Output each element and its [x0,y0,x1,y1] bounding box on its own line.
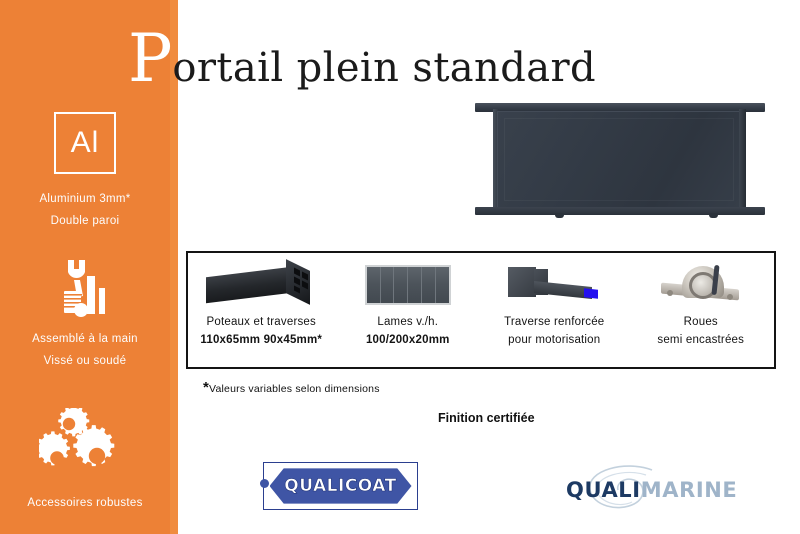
footnote-text: Valeurs variables selon dimensions [209,383,380,395]
gate-product-image [473,103,768,221]
qualicoat-diamond-shape: QUALICOAT [270,466,412,506]
sidebar-item-assembly: Assemblé à la main Vissé ou soudé [0,258,170,372]
qualimarine-logo-text: QUALIMARINE [566,478,737,502]
wrench-tools-icon [0,258,170,318]
al-symbol-label: Al [71,128,100,158]
slats-panel-icon [365,261,451,309]
sidebar-item-accessories: Accessoires robustes [0,408,170,514]
gate-infill-panel [497,111,741,208]
sidebar-item-assembly-line2: Vissé ou soudé [0,350,170,372]
feature-label-poteaux: Poteaux et traverses [207,316,316,328]
feature-spec-traverse: pour motorisation [508,334,600,346]
sidebar-item-aluminium: Al Aluminium 3mm* Double paroi [0,112,170,232]
feature-label-lames: Lames v./h. [377,316,438,328]
feature-label-roues: Roues [684,316,718,328]
feature-item-traverse: Traverse renforcée pour motorisation [481,253,628,367]
sidebar-item-aluminium-line2: Double paroi [0,210,170,232]
qualicoat-logo-text: QUALICOAT [284,476,396,496]
slide-canvas: Al Aluminium 3mm* Double paroi [0,0,800,534]
gate-bottom-rail [475,207,765,215]
feature-label-traverse: Traverse renforcée [504,316,604,328]
certification-heading: Finition certifiée [438,411,535,425]
gate-foot-right [709,213,718,218]
gate-foot-left [555,213,564,218]
qualicoat-logo: QUALICOAT [263,462,418,510]
features-box: Poteaux et traverses 110x65mm 90x45mm* L… [186,251,776,369]
feature-item-lames: Lames v./h. 100/200x20mm [335,253,482,367]
qualimarine-logo: QUALIMARINE [556,468,736,512]
footnote: *Valeurs variables selon dimensions [203,383,380,395]
qualimarine-text-part1: QUALI [566,478,641,502]
sidebar-item-aluminium-line1: Aluminium 3mm* [0,188,170,210]
gears-icon [0,408,170,480]
wheel-bearing-icon [659,261,743,309]
page-title: Portail plein standard [128,26,596,92]
aluminium-profile-icon [206,261,316,309]
gate-right-post [739,109,746,210]
qualicoat-dot-accent [260,479,269,488]
aluminium-al-square-icon: Al [54,112,116,174]
feature-item-roues: Roues semi encastrées [628,253,775,367]
sidebar-item-accessories-line1: Accessoires robustes [0,492,170,514]
qualimarine-text-part2: MARINE [641,478,738,502]
feature-item-poteaux: Poteaux et traverses 110x65mm 90x45mm* [188,253,335,367]
reinforced-beam-icon [504,261,604,309]
sidebar-item-assembly-line1: Assemblé à la main [0,328,170,350]
feature-spec-roues: semi encastrées [657,334,744,346]
page-title-initial: P [128,20,172,97]
feature-spec-lames: 100/200x20mm [366,334,450,346]
feature-spec-poteaux: 110x65mm 90x45mm* [200,334,322,346]
page-title-rest: ortail plein standard [172,45,596,91]
